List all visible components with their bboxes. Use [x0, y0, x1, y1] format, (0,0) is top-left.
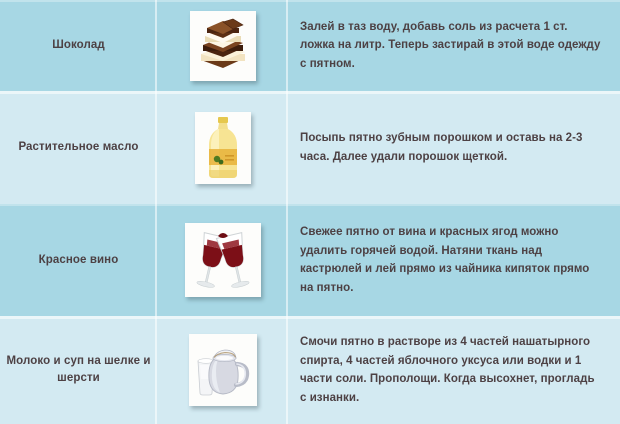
- illustration-cell: [157, 316, 288, 424]
- instructions-cell: Залей в таз воду, добавь соль из расчета…: [288, 0, 620, 91]
- illustration-cell: [157, 91, 288, 204]
- table-row: Шоколад: [0, 0, 620, 91]
- stain-removal-table: Шоколад: [0, 0, 620, 424]
- oil-bottle-icon: [202, 115, 244, 181]
- instructions-cell: Смочи пятно в растворе из 4 частей нашат…: [288, 316, 620, 424]
- table-row: Красное вино: [0, 204, 620, 316]
- instructions-text: Залей в таз воду, добавь соль из расчета…: [300, 18, 604, 74]
- table-row: Растительное масло: [0, 91, 620, 204]
- instructions-text: Смочи пятно в растворе из 4 частей нашат…: [300, 333, 604, 407]
- stain-type-cell: Красное вино: [0, 204, 157, 316]
- table-row: Молоко и суп на шелке и шерсти: [0, 316, 620, 424]
- wine-glasses-icon: [188, 227, 258, 293]
- stain-type-label: Красное вино: [39, 252, 119, 269]
- instructions-text: Посыпь пятно зубным порошком и оставь на…: [300, 129, 604, 166]
- red-wine-glasses-image: [185, 223, 261, 297]
- illustration-cell: [157, 204, 288, 316]
- stain-type-label: Шоколад: [52, 37, 105, 54]
- stain-type-cell: Шоколад: [0, 0, 157, 91]
- stain-type-label: Растительное масло: [18, 139, 138, 156]
- milk-jug-image: [189, 334, 257, 406]
- chocolate-bars-icon: [193, 16, 253, 76]
- instructions-cell: Свежее пятно от вина и красных ягод можн…: [288, 204, 620, 316]
- milk-jug-icon: [192, 339, 254, 401]
- instructions-cell: Посыпь пятно зубным порошком и оставь на…: [288, 91, 620, 204]
- instructions-text: Свежее пятно от вина и красных ягод можн…: [300, 223, 604, 297]
- illustration-cell: [157, 0, 288, 91]
- stain-type-cell: Растительное масло: [0, 91, 157, 204]
- stain-type-label: Молоко и суп на шелке и шерсти: [6, 353, 151, 387]
- stain-type-cell: Молоко и суп на шелке и шерсти: [0, 316, 157, 424]
- chocolate-bars-image: [190, 11, 256, 81]
- vegetable-oil-bottle-image: [195, 112, 251, 184]
